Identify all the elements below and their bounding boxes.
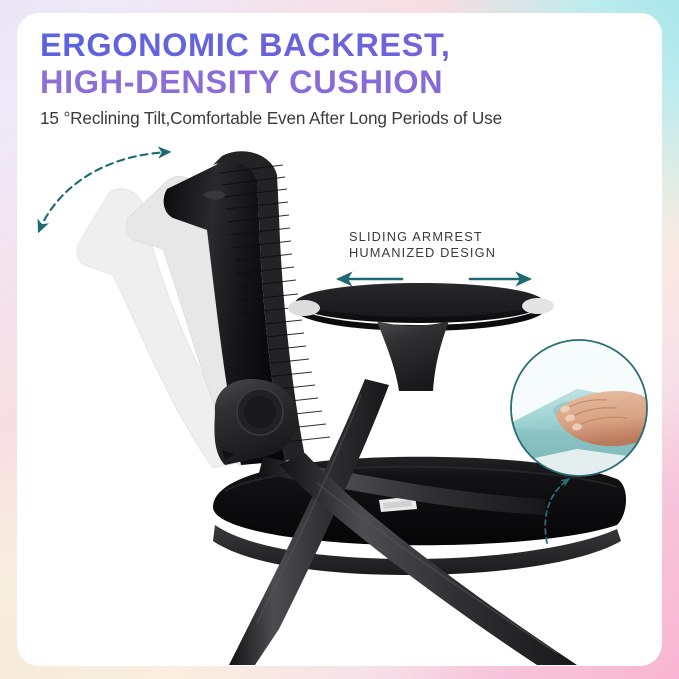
- armrest-cap-left: [288, 300, 320, 316]
- armrest-stem: [377, 321, 449, 391]
- armrest-cap-right: [522, 298, 554, 314]
- armrest-callout: SLIDING ARMREST HUMANIZED DESIGN: [349, 229, 496, 261]
- white-card: ERGONOMIC BACKREST, HIGH-DENSITY CUSHION…: [17, 13, 662, 666]
- product-infographic: ERGONOMIC BACKREST, HIGH-DENSITY CUSHION…: [0, 0, 679, 679]
- sliding-armrest-tablet: [288, 283, 554, 391]
- armrest-callout-line-2: HUMANIZED DESIGN: [349, 245, 496, 261]
- product-illustration: [17, 13, 662, 666]
- armrest-callout-line-1: SLIDING ARMREST: [349, 229, 496, 245]
